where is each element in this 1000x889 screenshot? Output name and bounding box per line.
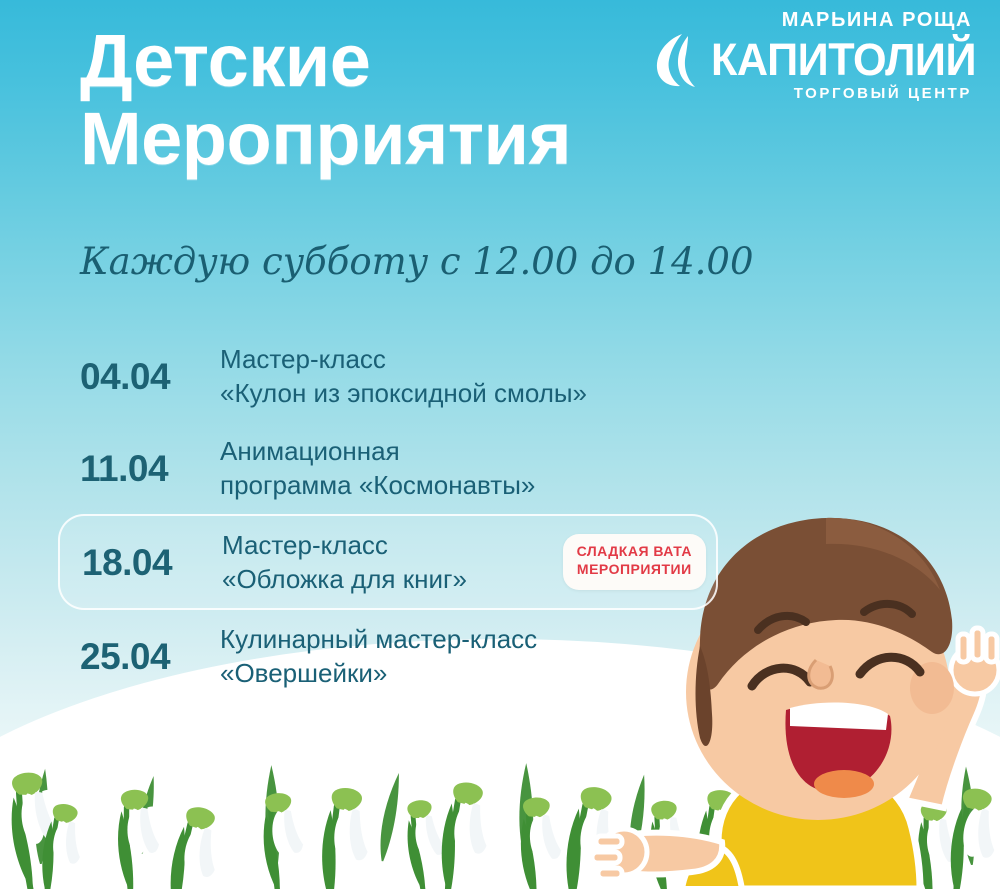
event-row-highlighted[interactable]: 18.04 Мастер-класс «Обложка для книг» СЛ… bbox=[58, 514, 718, 610]
event-date: 25.04 bbox=[80, 638, 220, 675]
event-row[interactable]: 25.04 Кулинарный мастер-класс «Овершейки… bbox=[58, 610, 718, 702]
event-row[interactable]: 11.04 Анимационная программа «Космонавты… bbox=[58, 422, 718, 514]
event-description: Кулинарный мастер-класс «Овершейки» bbox=[220, 622, 708, 691]
poster-canvas: МАРЬИНА РОЩА КАПИТОЛИЙ ТОРГОВЫЙ ЦЕНТР Де… bbox=[0, 0, 1000, 889]
event-date: 18.04 bbox=[82, 544, 222, 581]
logo-main-row: КАПИТОЛИЙ bbox=[656, 32, 976, 88]
event-date: 04.04 bbox=[80, 358, 220, 395]
event-description: Мастер-класс «Кулон из эпоксидной смолы» bbox=[220, 342, 708, 411]
event-description: Мастер-класс «Обложка для книг» bbox=[222, 528, 549, 597]
logo-wordmark: КАПИТОЛИЙ bbox=[711, 38, 976, 82]
event-date: 11.04 bbox=[80, 450, 220, 487]
crescent-swoosh-icon bbox=[652, 32, 698, 88]
mall-logo[interactable]: МАРЬИНА РОЩА КАПИТОЛИЙ ТОРГОВЫЙ ЦЕНТР bbox=[656, 10, 976, 101]
event-row[interactable]: 04.04 Мастер-класс «Кулон из эпоксидной … bbox=[58, 330, 718, 422]
page-title: Детские Мероприятия bbox=[80, 22, 571, 179]
status-badge: СЛАДКАЯ ВАТА МЕРОПРИЯТИИ bbox=[563, 534, 706, 590]
page-subtitle: Каждую субботу с 12.00 до 14.00 bbox=[80, 240, 754, 283]
event-description: Анимационная программа «Космонавты» bbox=[220, 434, 708, 503]
logo-bottom-line: ТОРГОВЫЙ ЦЕНТР bbox=[656, 86, 976, 101]
events-list: 04.04 Мастер-класс «Кулон из эпоксидной … bbox=[58, 330, 718, 702]
logo-top-line: МАРЬИНА РОЩА bbox=[656, 10, 976, 30]
